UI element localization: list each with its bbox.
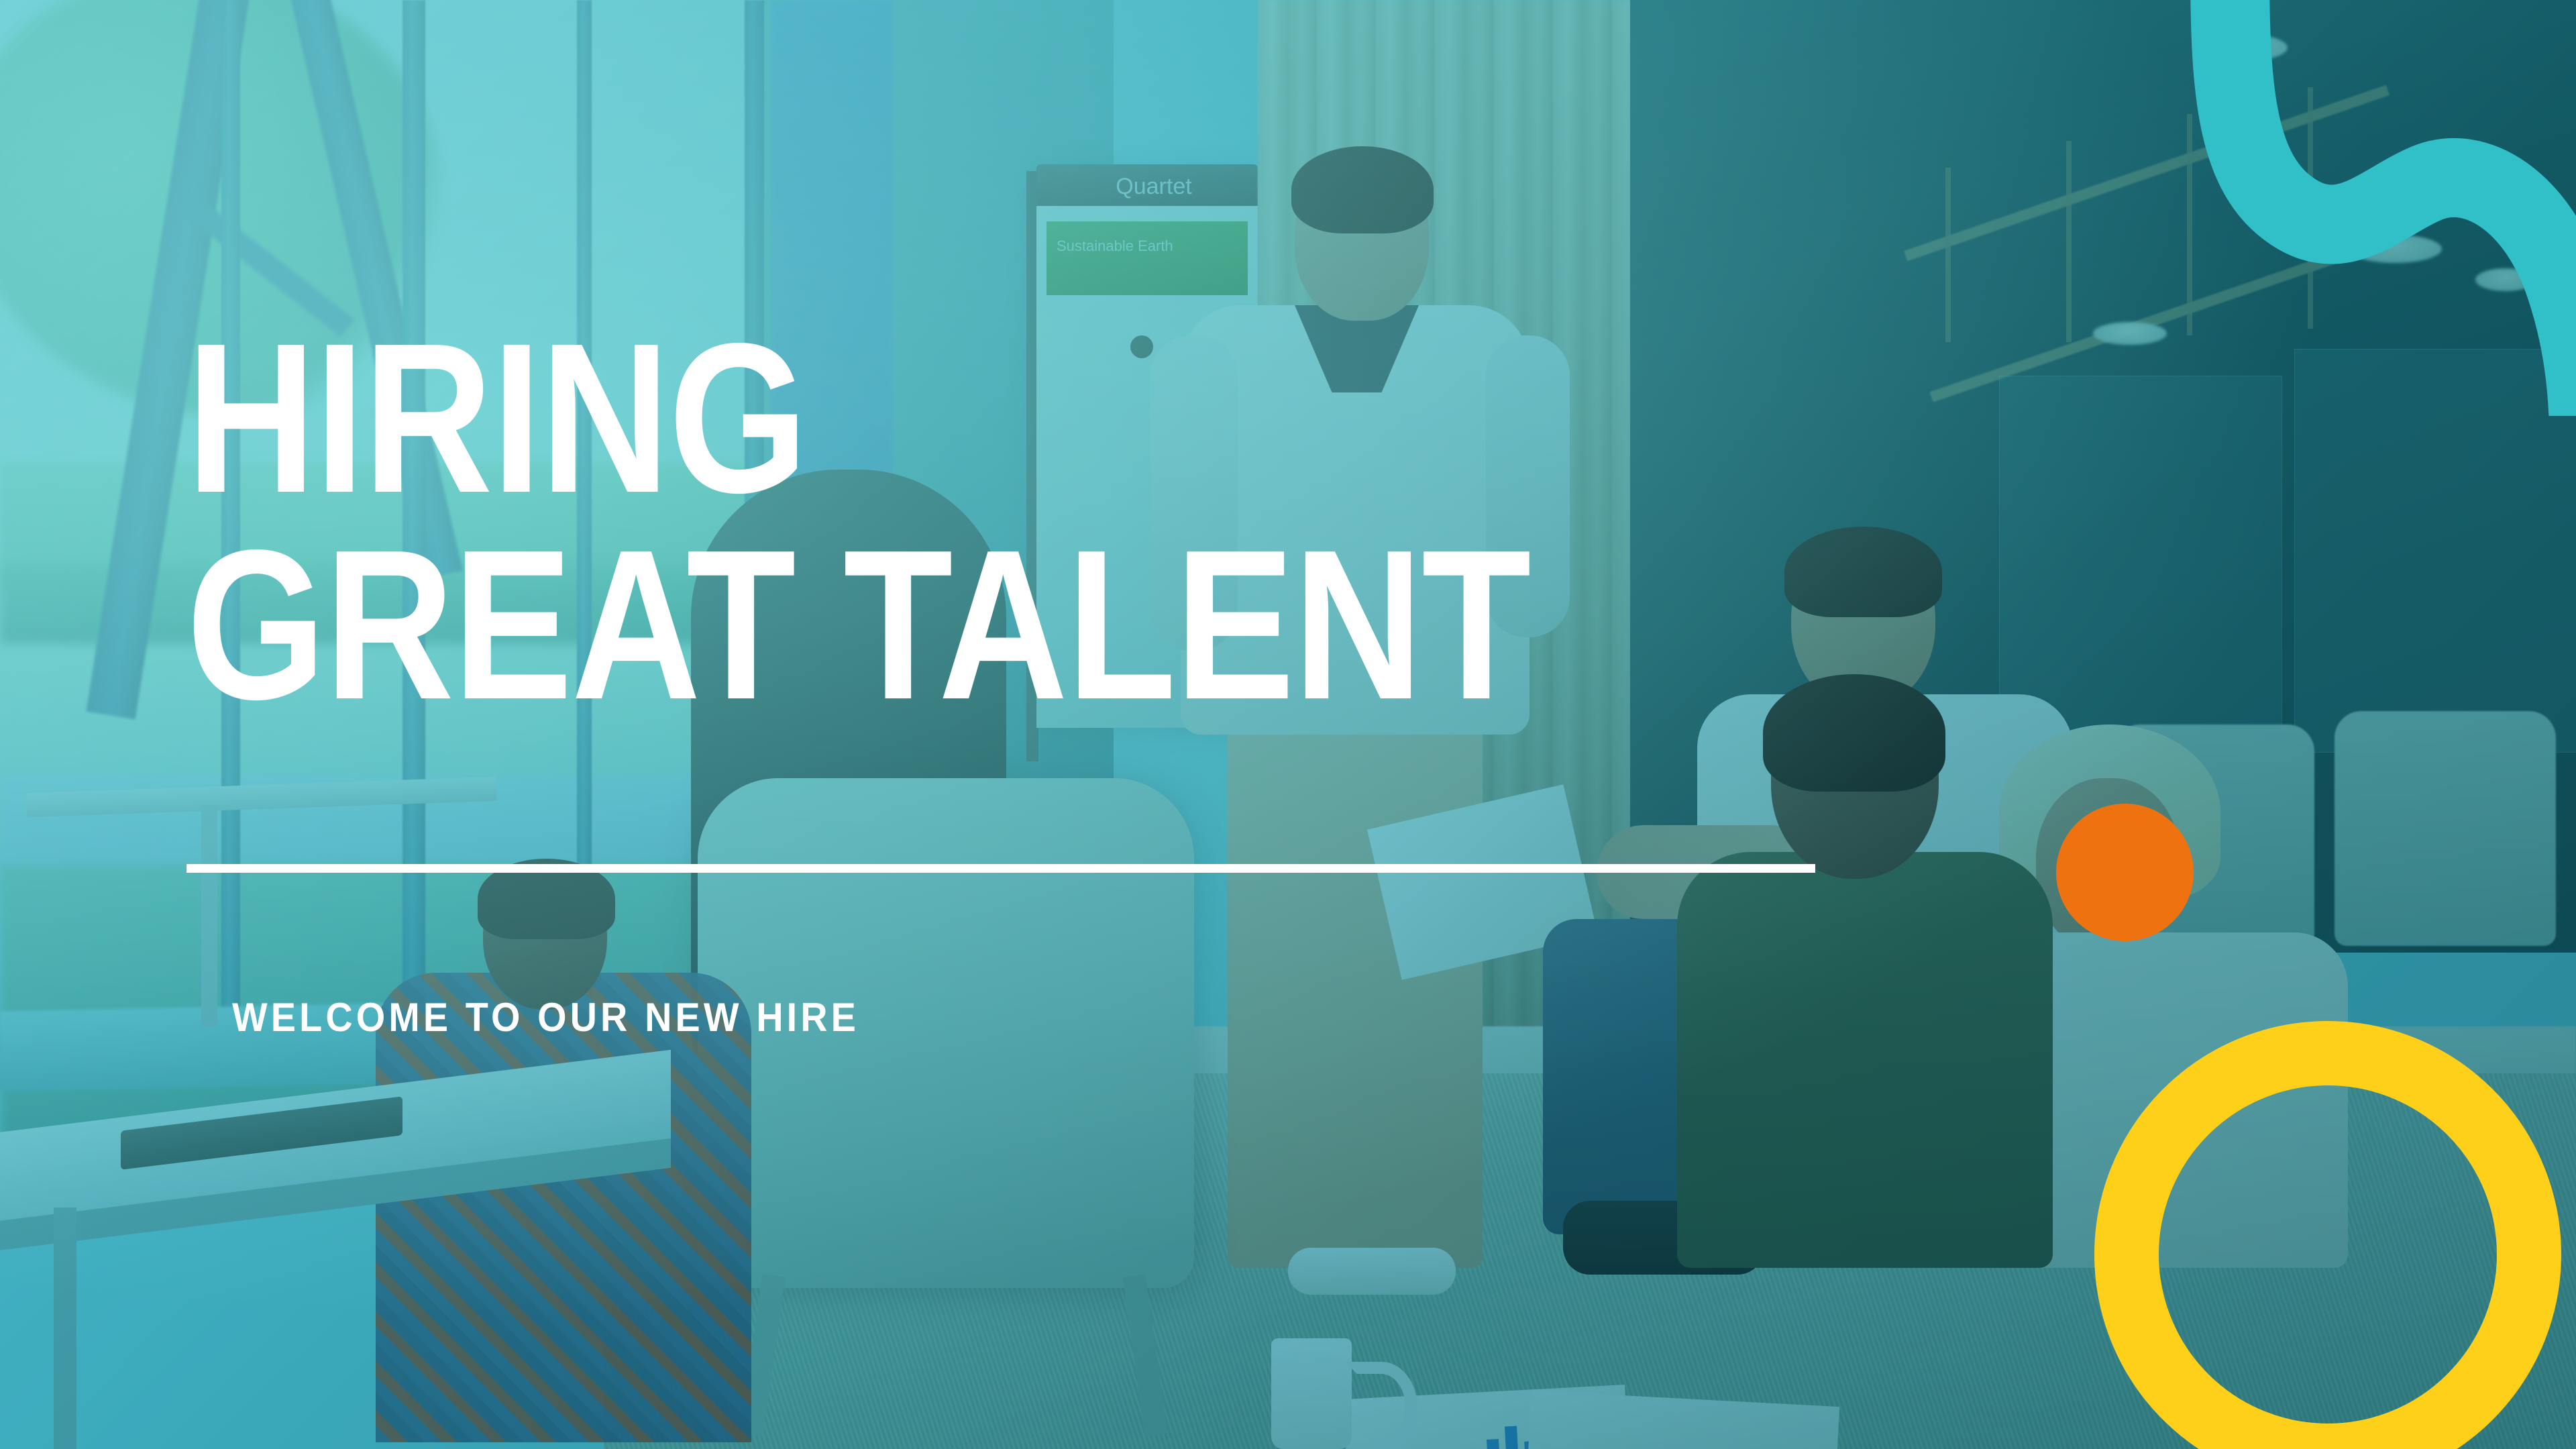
hiring-banner: Quartet Sustainable Earth xyxy=(0,0,2576,1449)
orange-circle-dot-icon xyxy=(2056,804,2194,941)
teal-wave-squiggle-icon xyxy=(2066,0,2576,416)
subtitle: WELCOME TO OUR NEW HIRE xyxy=(232,998,859,1038)
headline-line-1: HIRING xyxy=(186,315,1652,522)
divider-rule xyxy=(186,864,1815,873)
headline-line-2: GREAT TALENT xyxy=(186,522,1652,729)
headline-block: HIRING GREAT TALENT xyxy=(186,315,1931,729)
yellow-ring-arc-icon xyxy=(2053,979,2576,1449)
